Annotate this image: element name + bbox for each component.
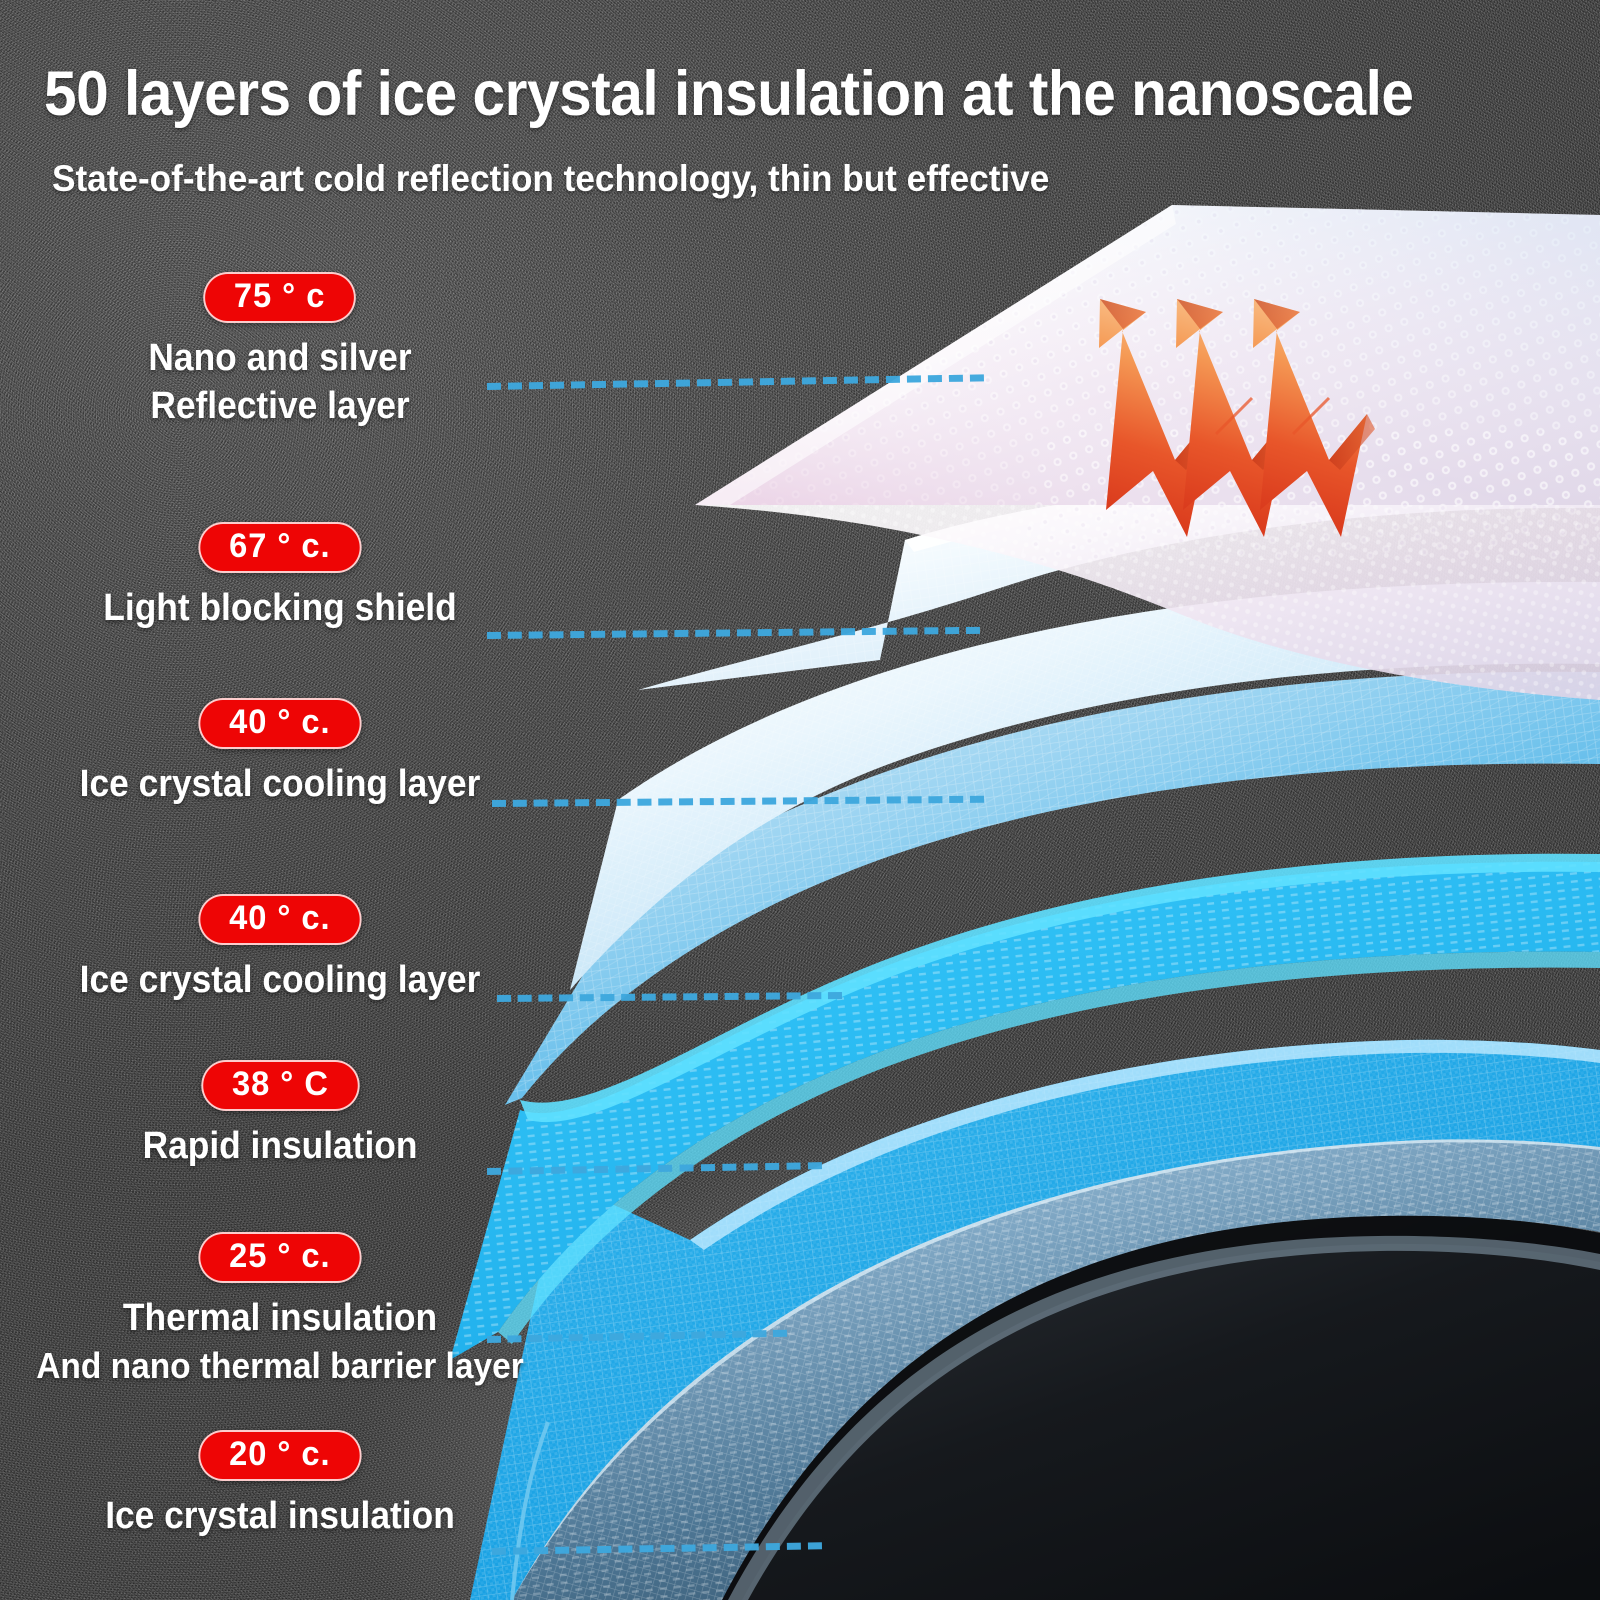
layer-label-1-line1: Nano and silver [20,336,541,382]
temperature-badge-1: 75 ° c [204,272,357,323]
temperature-badge-6: 25 ° c. [199,1232,362,1283]
temperature-badge-7: 20 ° c. [199,1430,362,1481]
layer-row-2: 67 ° c. Light blocking shield [0,522,560,632]
badge-wrap-1: 75 ° c [0,272,560,323]
page-subtitle: State-of-the-art cold reflection technol… [52,158,1049,200]
layer-label-1-line2: Reflective layer [20,384,541,430]
badge-wrap-2: 67 ° c. [0,522,560,573]
page-title: 50 layers of ice crystal insulation at t… [44,58,1414,130]
infographic-canvas: 50 layers of ice crystal insulation at t… [0,0,1600,1600]
layer-label-5-line1: Rapid insulation [20,1124,541,1170]
layer-row-3: 40 ° c. Ice crystal cooling layer [0,698,560,808]
layer-label-6-line2: And nano thermal barrier layer [20,1344,541,1388]
annotation-text-layer: 50 layers of ice crystal insulation at t… [0,0,1600,1600]
layer-row-5: 38 ° C Rapid insulation [0,1060,560,1170]
layer-label-7-line1: Ice crystal insulation [20,1494,541,1540]
temperature-badge-3: 40 ° c. [199,698,362,749]
layer-label-6-line1: Thermal insulation [20,1296,541,1342]
temperature-badge-5: 38 ° C [201,1060,359,1111]
layer-row-7: 20 ° c. Ice crystal insulation [0,1430,560,1540]
temperature-badge-4: 40 ° c. [199,894,362,945]
layer-row-1: 75 ° c Nano and silver Reflective layer [0,272,560,430]
badge-wrap-3: 40 ° c. [0,698,560,749]
badge-wrap-7: 20 ° c. [0,1430,560,1481]
badge-wrap-5: 38 ° C [0,1060,560,1111]
layer-row-6: 25 ° c. Thermal insulation And nano ther… [0,1232,560,1388]
layer-row-4: 40 ° c. Ice crystal cooling layer [0,894,560,1004]
badge-wrap-6: 25 ° c. [0,1232,560,1283]
badge-wrap-4: 40 ° c. [0,894,560,945]
layer-label-4-line1: Ice crystal cooling layer [20,958,541,1004]
layer-label-3-line1: Ice crystal cooling layer [20,762,541,808]
temperature-badge-2: 67 ° c. [199,522,362,573]
layer-label-2-line1: Light blocking shield [20,586,541,632]
